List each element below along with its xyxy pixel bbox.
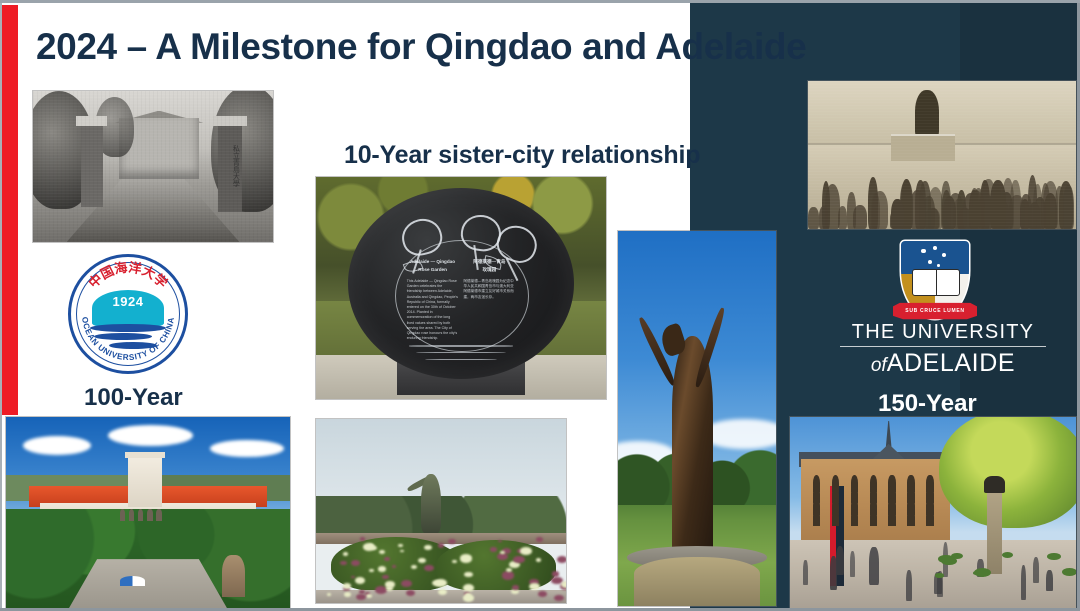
- wordmark-adelaide: ADELAIDE: [887, 349, 1015, 377]
- crest-motto-text: SUB CRUCE LUMEN: [905, 308, 964, 314]
- historic-qingdao-university-gate-photo: 私立青島大學: [33, 91, 273, 242]
- university-of-adelaide-wordmark: THE UNIVERSITY ofADELAIDE: [828, 321, 1058, 377]
- plaque-body-cn: 阿德莱德—青岛玫瑰园为纪念中华人民共和国青岛市与澳大利亚阿德莱德市建立友好城市关…: [463, 279, 515, 341]
- adelaide-anniversary-label: 150-Year: [878, 390, 977, 418]
- adelaide-qingdao-rose-garden-monument-photo: Adelaide — Qingdao Rose Garden 阿德莱德—青岛 玫…: [316, 177, 606, 399]
- ouc-anniversary-label: 100-Year: [84, 384, 183, 412]
- rose-garden-statue-photo: [316, 419, 566, 603]
- ocean-university-of-china-logo: 1924 中国海洋大学 OCEAN UNIVERSITY OF CHINA: [68, 254, 188, 374]
- ouc-arc-text: 中国海洋大学 OCEAN UNIVERSITY OF CHINA: [68, 254, 188, 374]
- plaque-title-en: Adelaide — Qingdao: [407, 259, 459, 266]
- monument-plaque-inscription: Adelaide — Qingdao Rose Garden 阿德莱德—青岛 玫…: [407, 259, 516, 324]
- wordmark-line-1: THE UNIVERSITY: [828, 321, 1058, 343]
- plaque-title-cn-2: 玫瑰园: [463, 267, 515, 274]
- adelaide-campus-photo: [790, 417, 1076, 609]
- open-book-icon: [912, 269, 960, 296]
- qingdao-campus-aerial-photo: [6, 417, 290, 609]
- crest-motto-ribbon: SUB CRUCE LUMEN: [893, 301, 977, 320]
- plaque-title-cn: 阿德莱德—青岛: [463, 259, 515, 266]
- presentation-slide: 2024 – A Milestone for Qingdao and Adela…: [0, 0, 1080, 611]
- plaque-title-en-2: Rose Garden: [407, 267, 459, 274]
- plaque-body-en: This Adelaide — Qingdao Rose Garden cele…: [407, 279, 459, 341]
- bronze-female-statue-fountain-photo: [618, 231, 776, 606]
- page-subtitle-text: 10-Year sister-city relationship: [344, 140, 700, 170]
- svg-text:OCEAN UNIVERSITY OF CHINA: OCEAN UNIVERSITY OF CHINA: [80, 316, 176, 362]
- wordmark-line-2: ofADELAIDE: [828, 349, 1058, 377]
- wordmark-of: of: [871, 355, 887, 376]
- historic-adelaide-ceremony-photo: [808, 81, 1076, 229]
- svg-text:中国海洋大学: 中国海洋大学: [86, 260, 171, 292]
